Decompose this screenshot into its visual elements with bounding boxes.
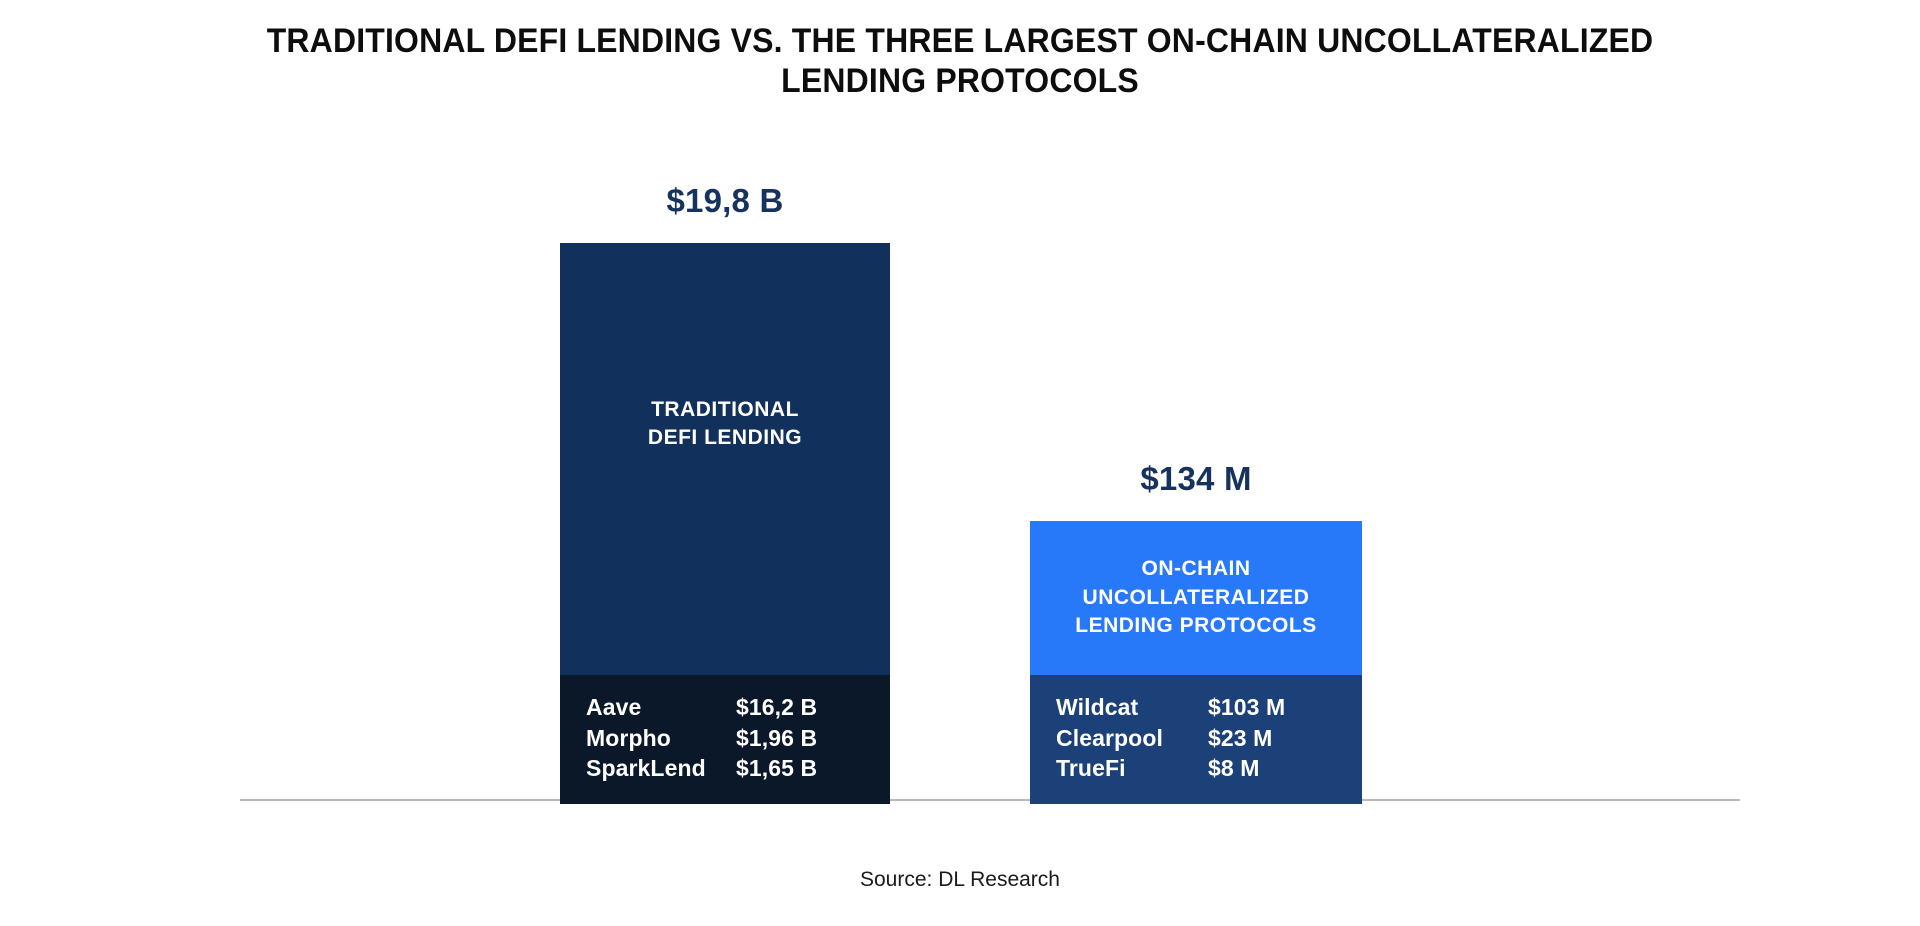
bar-footer-onchain: Wildcat $103 M Clearpool $23 M TrueFi $8…	[1030, 675, 1362, 804]
plot-area: $19,8 B TRADITIONAL DEFI LENDING Aave $1…	[0, 0, 1920, 926]
list-item: TrueFi $8 M	[1056, 753, 1336, 784]
bar-body-traditional: TRADITIONAL DEFI LENDING	[560, 243, 890, 675]
protocol-name: Wildcat	[1056, 692, 1138, 723]
protocol-value: $1,65 B	[736, 753, 864, 784]
bar-body-label-onchain: ON-CHAIN UNCOLLATERALIZED LENDING PROTOC…	[1075, 555, 1316, 640]
bar-value-label-onchain: $134 M	[1030, 460, 1362, 498]
bar-footer-traditional: Aave $16,2 B Morpho $1,96 B SparkLend $1…	[560, 675, 890, 804]
protocol-value: $1,96 B	[736, 723, 864, 754]
protocol-name: SparkLend	[586, 753, 706, 784]
bar-body-onchain: ON-CHAIN UNCOLLATERALIZED LENDING PROTOC…	[1030, 521, 1362, 675]
baseline-axis	[240, 799, 1740, 801]
bar-body-label-traditional: TRADITIONAL DEFI LENDING	[648, 396, 802, 453]
protocol-value: $103 M	[1208, 692, 1336, 723]
protocol-name: TrueFi	[1056, 753, 1126, 784]
bar-column-onchain: ON-CHAIN UNCOLLATERALIZED LENDING PROTOC…	[1030, 521, 1362, 804]
protocol-name: Clearpool	[1056, 723, 1163, 754]
list-item: Clearpool $23 M	[1056, 723, 1336, 754]
protocol-name: Aave	[586, 692, 641, 723]
protocol-value: $8 M	[1208, 753, 1336, 784]
bar-traditional-defi-lending[interactable]: $19,8 B TRADITIONAL DEFI LENDING Aave $1…	[560, 243, 890, 804]
protocol-value: $23 M	[1208, 723, 1336, 754]
list-item: Morpho $1,96 B	[586, 723, 864, 754]
source-caption: Source: DL Research	[0, 868, 1920, 892]
protocol-name: Morpho	[586, 723, 671, 754]
chart-canvas: TRADITIONAL DEFI LENDING VS. THE THREE L…	[0, 0, 1920, 926]
list-item: SparkLend $1,65 B	[586, 753, 864, 784]
protocol-value: $16,2 B	[736, 692, 864, 723]
list-item: Wildcat $103 M	[1056, 692, 1336, 723]
bar-column-traditional: TRADITIONAL DEFI LENDING Aave $16,2 B Mo…	[560, 243, 890, 804]
list-item: Aave $16,2 B	[586, 692, 864, 723]
bar-value-label-traditional: $19,8 B	[560, 182, 890, 220]
bar-onchain-uncollateralized-lending[interactable]: $134 M ON-CHAIN UNCOLLATERALIZED LENDING…	[1030, 521, 1362, 804]
